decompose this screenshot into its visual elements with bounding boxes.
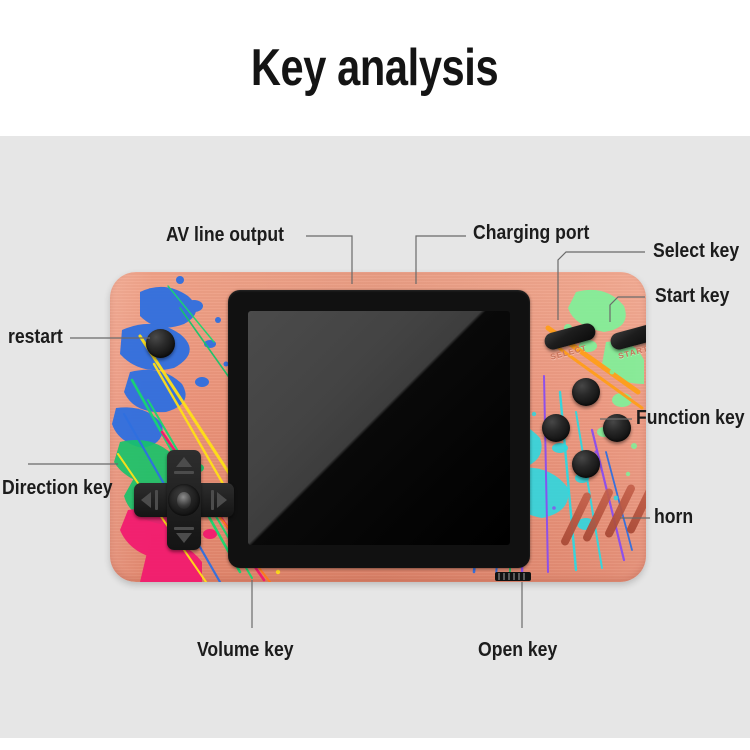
dpad-left-bar	[155, 490, 158, 510]
function-button-bottom[interactable]	[572, 450, 600, 478]
dpad-up-arrow-icon	[176, 457, 192, 467]
header: Key analysis	[0, 0, 750, 136]
bottom-white-band	[0, 738, 750, 750]
function-button-top[interactable]	[572, 378, 600, 406]
annotation-horn: horn	[654, 506, 693, 529]
open-key-switch[interactable]	[495, 572, 531, 581]
function-button-right[interactable]	[603, 414, 631, 442]
dpad-center-dot	[177, 492, 191, 509]
annotation-volume-key: Volume key	[197, 639, 294, 662]
annotation-direction-key: Direction key	[2, 477, 113, 500]
annotation-open-key: Open key	[478, 639, 557, 662]
dpad-down-bar	[174, 527, 194, 530]
screen-bezel	[228, 290, 530, 568]
dpad-left-arrow-icon	[141, 492, 151, 508]
function-button-left[interactable]	[542, 414, 570, 442]
annotation-restart: restart	[8, 326, 63, 349]
annotation-charging-port: Charging port	[473, 222, 589, 245]
dpad-up-bar	[174, 471, 194, 474]
speaker-horn	[568, 484, 646, 550]
direction-pad[interactable]	[134, 450, 234, 550]
annotation-select-key: Select key	[653, 240, 739, 263]
restart-button[interactable]	[146, 329, 175, 358]
dpad-right-bar	[211, 490, 214, 510]
annotation-function-key: Function key	[636, 407, 745, 430]
dpad-right-arrow-icon	[217, 492, 227, 508]
annotation-av-line-output: AV line output	[166, 224, 284, 247]
product-infographic: Key analysis	[0, 0, 750, 750]
handheld-console-body: SELECT START	[110, 272, 646, 582]
screen-display	[248, 311, 510, 545]
diagram-stage: SELECT START	[0, 136, 750, 738]
annotation-start-key: Start key	[655, 285, 729, 308]
dpad-down-arrow-icon	[176, 533, 192, 543]
page-title: Key analysis	[251, 38, 498, 98]
